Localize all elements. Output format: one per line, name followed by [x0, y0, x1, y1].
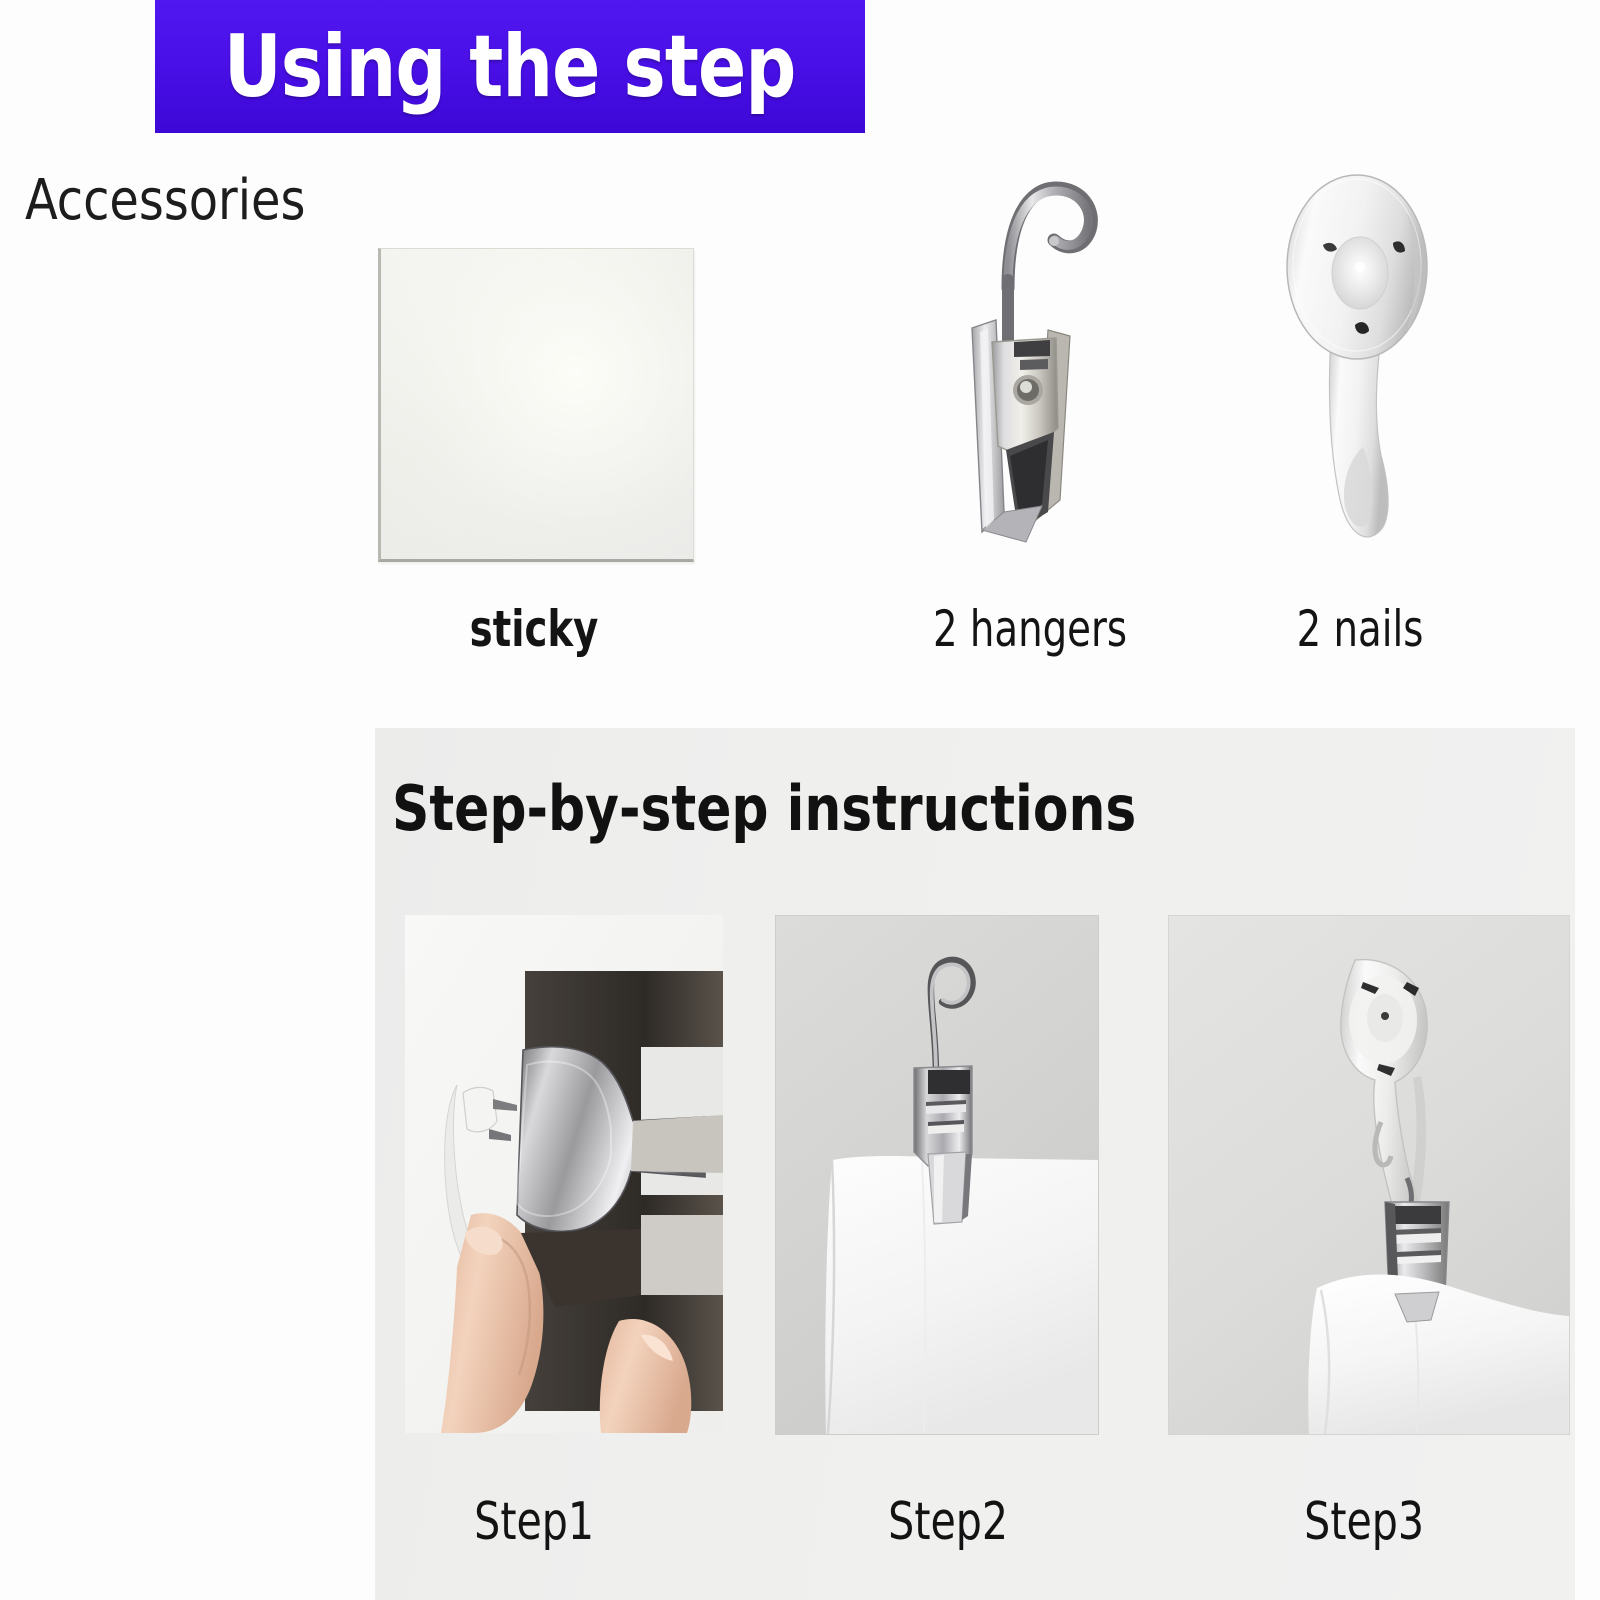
accessory-label-nails: 2 nails: [1265, 600, 1454, 658]
step-label-1: Step1: [474, 1492, 594, 1552]
page-title: Using the step: [224, 24, 796, 110]
step-image-3: [1168, 915, 1570, 1435]
infographic-stage: Using the step Accessories sticky: [0, 0, 1600, 1600]
step-label-3: Step3: [1304, 1492, 1424, 1552]
instructions-section-title: Step-by-step instructions: [392, 772, 1136, 845]
step-image-1: [405, 915, 723, 1433]
accessory-label-hangers: 2 hangers: [923, 600, 1138, 658]
sticky-pad-icon: [378, 248, 694, 562]
step-image-2: [775, 915, 1099, 1435]
clip-hanger-icon: [930, 160, 1130, 560]
wall-hook-icon: [1265, 155, 1455, 555]
title-banner: Using the step: [155, 0, 865, 133]
step-label-2: Step2: [888, 1492, 1008, 1552]
accessories-section-title: Accessories: [25, 168, 305, 233]
accessory-label-sticky: sticky: [400, 600, 668, 658]
